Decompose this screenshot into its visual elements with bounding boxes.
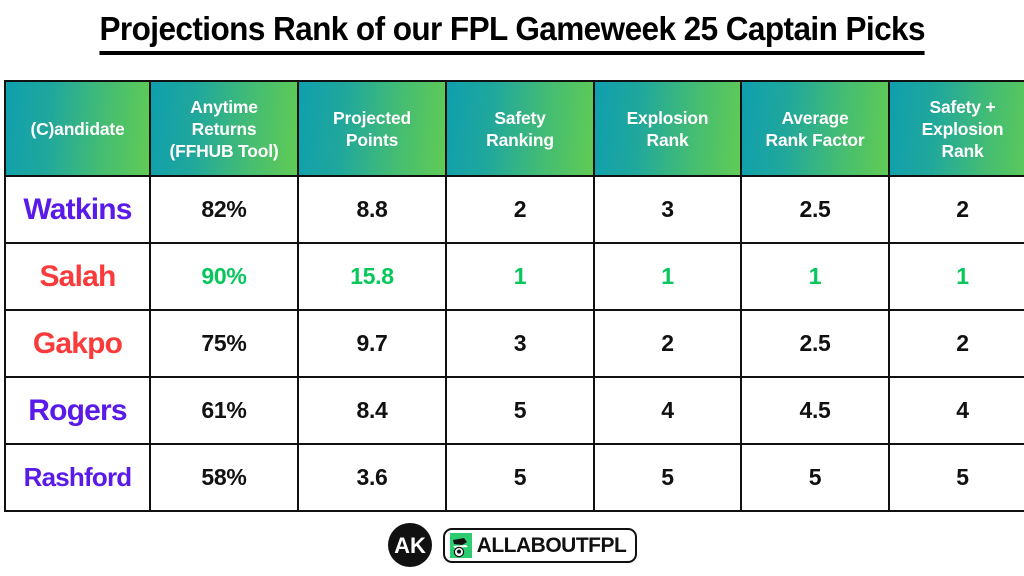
header-line: Safety: [447, 107, 593, 129]
cell-safety-plus-explosion-rank: 1: [889, 243, 1024, 310]
cell-explosion-rank: 3: [594, 176, 741, 243]
header-line: Ranking: [447, 129, 593, 151]
ak-monogram-icon: AK: [387, 522, 433, 568]
cell-safety-plus-explosion-rank: 5: [889, 444, 1024, 511]
cell-anytime-returns: 61%: [150, 377, 298, 444]
cell-projected-points: 9.7: [298, 310, 446, 377]
cell-candidate-name: Salah: [5, 243, 150, 310]
captain-picks-table: (C)andidate Anytime Returns (FFHUB Tool)…: [4, 80, 1024, 512]
cell-projected-points: 15.8: [298, 243, 446, 310]
header-line: Safety +: [890, 96, 1024, 118]
footer-logos: AK ALLABOUTFPL: [0, 522, 1024, 568]
cell-safety-ranking: 5: [446, 377, 594, 444]
cell-safety-plus-explosion-rank: 2: [889, 310, 1024, 377]
column-header-candidate: (C)andidate: [5, 81, 150, 176]
page-title: Projections Rank of our FPL Gameweek 25 …: [99, 8, 924, 55]
column-header-safety-ranking: Safety Ranking: [446, 81, 594, 176]
page-title-wrap: Projections Rank of our FPL Gameweek 25 …: [0, 8, 1024, 55]
cell-average-rank-factor: 2.5: [741, 310, 889, 377]
cell-safety-ranking: 5: [446, 444, 594, 511]
header-line: Rank Factor: [742, 129, 888, 151]
table-row: Rogers 61% 8.4 5 4 4.5 4: [5, 377, 1024, 444]
infographic-page: Projections Rank of our FPL Gameweek 25 …: [0, 0, 1024, 576]
ak-monogram-text: AK: [394, 533, 426, 558]
cell-explosion-rank: 2: [594, 310, 741, 377]
header-line: (C)andidate: [6, 118, 149, 140]
column-header-explosion-rank: Explosion Rank: [594, 81, 741, 176]
cell-explosion-rank: 5: [594, 444, 741, 511]
cell-safety-plus-explosion-rank: 2: [889, 176, 1024, 243]
table-row: Gakpo 75% 9.7 3 2 2.5 2: [5, 310, 1024, 377]
cell-safety-ranking: 3: [446, 310, 594, 377]
cell-safety-plus-explosion-rank: 4: [889, 377, 1024, 444]
cell-anytime-returns: 58%: [150, 444, 298, 511]
header-line: Projected: [299, 107, 445, 129]
allaboutfpl-text: ALLABOUTFPL: [477, 534, 627, 557]
cell-anytime-returns: 75%: [150, 310, 298, 377]
table-body: Watkins 82% 8.8 2 3 2.5 2 Salah 90% 15.8…: [5, 176, 1024, 511]
column-header-projected-points: Projected Points: [298, 81, 446, 176]
cell-average-rank-factor: 4.5: [741, 377, 889, 444]
football-boot-and-ball-icon: [450, 533, 472, 558]
cell-candidate-name: Gakpo: [5, 310, 150, 377]
cell-anytime-returns: 90%: [150, 243, 298, 310]
cell-projected-points: 8.8: [298, 176, 446, 243]
table-row: Rashford 58% 3.6 5 5 5 5: [5, 444, 1024, 511]
table-header-row: (C)andidate Anytime Returns (FFHUB Tool)…: [5, 81, 1024, 176]
allaboutfpl-badge: ALLABOUTFPL: [443, 528, 638, 563]
header-line: Explosion: [890, 118, 1024, 140]
column-header-average-rank-factor: Average Rank Factor: [741, 81, 889, 176]
table-header: (C)andidate Anytime Returns (FFHUB Tool)…: [5, 81, 1024, 176]
cell-projected-points: 8.4: [298, 377, 446, 444]
header-line: Returns: [151, 118, 297, 140]
cell-explosion-rank: 1: [594, 243, 741, 310]
header-line: (FFHUB Tool): [151, 140, 297, 162]
cell-average-rank-factor: 2.5: [741, 176, 889, 243]
cell-safety-ranking: 1: [446, 243, 594, 310]
table-row: Salah 90% 15.8 1 1 1 1: [5, 243, 1024, 310]
cell-projected-points: 3.6: [298, 444, 446, 511]
header-line: Explosion: [595, 107, 740, 129]
header-line: Rank: [890, 140, 1024, 162]
header-line: Rank: [595, 129, 740, 151]
cell-average-rank-factor: 5: [741, 444, 889, 511]
cell-explosion-rank: 4: [594, 377, 741, 444]
header-line: Anytime: [151, 96, 297, 118]
cell-anytime-returns: 82%: [150, 176, 298, 243]
column-header-anytime-returns: Anytime Returns (FFHUB Tool): [150, 81, 298, 176]
header-line: Points: [299, 129, 445, 151]
cell-candidate-name: Rogers: [5, 377, 150, 444]
table-row: Watkins 82% 8.8 2 3 2.5 2: [5, 176, 1024, 243]
ak-monogram-logo: AK: [387, 522, 433, 568]
cell-average-rank-factor: 1: [741, 243, 889, 310]
cell-safety-ranking: 2: [446, 176, 594, 243]
cell-candidate-name: Rashford: [5, 444, 150, 511]
cell-candidate-name: Watkins: [5, 176, 150, 243]
header-line: Average: [742, 107, 888, 129]
column-header-safety-plus-explosion-rank: Safety + Explosion Rank: [889, 81, 1024, 176]
